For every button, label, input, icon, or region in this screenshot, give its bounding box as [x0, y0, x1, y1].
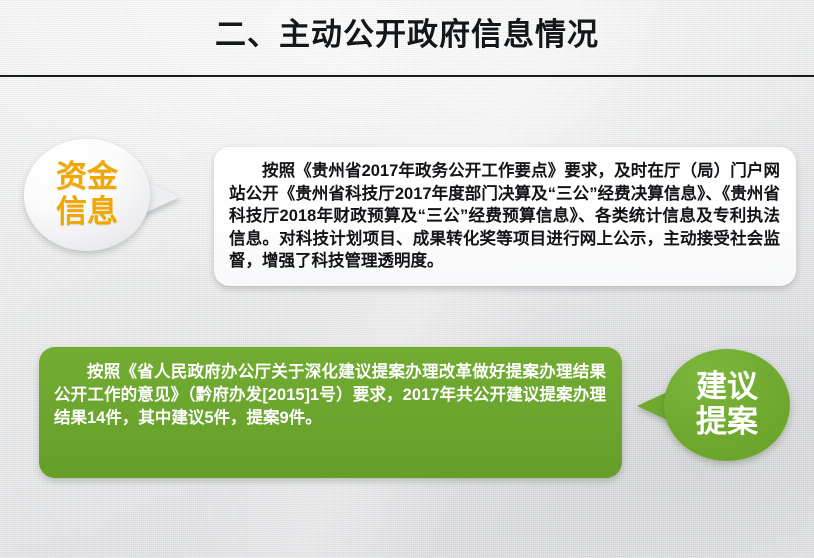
- panel-funds-body: 按照《贵州省2017年政务公开工作要点》要求，及时在厅（局）门户网站公开《贵州省…: [229, 160, 780, 273]
- callout-proposals-line-2: 提案: [696, 405, 758, 440]
- title-divider: [0, 75, 814, 77]
- panel-suggestions-proposals: 按照《省人民政府办公厅关于深化建议提案办理改革做好提案办理结果公开工作的意见》（…: [39, 347, 622, 478]
- page-title: 二、主动公开政府信息情况: [0, 16, 814, 55]
- callout-funds-line-1: 资金: [56, 160, 118, 195]
- panel-funds-information: 按照《贵州省2017年政务公开工作要点》要求，及时在厅（局）门户网站公开《贵州省…: [214, 147, 796, 286]
- callout-funds-information[interactable]: 资金 信息: [24, 139, 150, 251]
- callout-funds-line-2: 信息: [56, 195, 118, 230]
- panel-proposals-body: 按照《省人民政府办公厅关于深化建议提案办理改革做好提案办理结果公开工作的意见》（…: [54, 361, 606, 430]
- callout-suggestions-proposals[interactable]: 建议 提案: [664, 349, 790, 461]
- callout-proposals-line-1: 建议: [696, 370, 758, 405]
